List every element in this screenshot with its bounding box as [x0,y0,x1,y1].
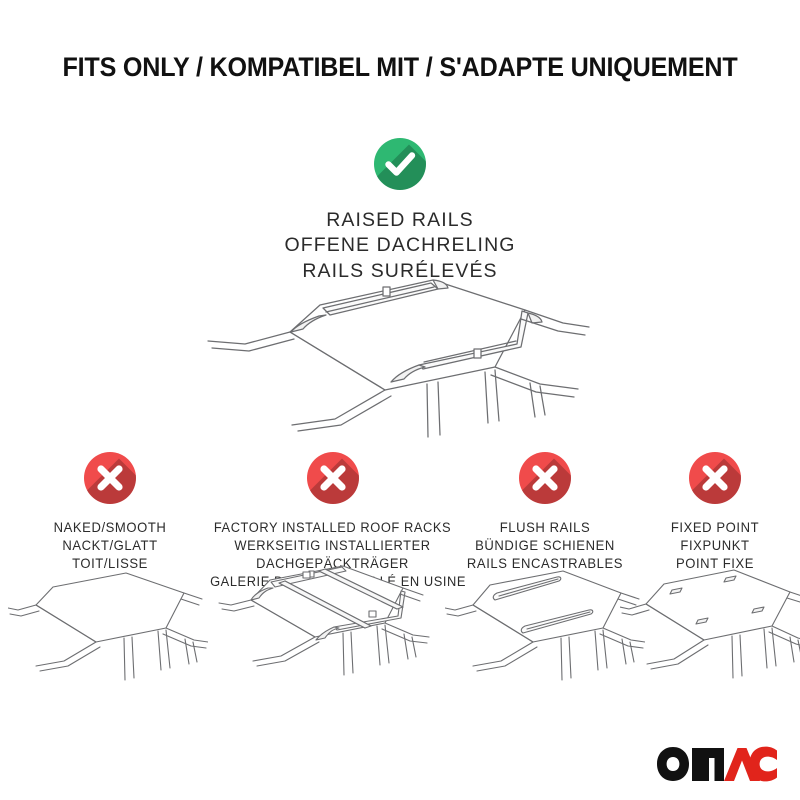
item-label-de: BÜNDIGE SCHIENEN [454,537,636,555]
logo-letter-o [657,747,689,781]
compatible-label-de: OFFENE DACHRELING [0,233,800,258]
item-label-en: FLUSH RAILS [454,519,636,537]
x-circle-icon [689,452,741,504]
omac-logo [656,746,778,782]
incompatible-item-naked-smooth: NAKED/SMOOTH NACKT/GLATT TOIT/LISSE [5,452,215,574]
compatible-label-en: RAISED RAILS [0,208,800,233]
logo-letter-m [692,748,724,781]
item-label-en: NAKED/SMOOTH [9,519,211,537]
x-circle-icon [84,452,136,504]
x-circle-icon [519,452,571,504]
check-circle-icon [374,138,426,190]
page-title: FITS ONLY / KOMPATIBEL MIT / S'ADAPTE UN… [28,52,772,83]
naked-smooth-illustration [8,560,208,695]
logo-letter-c [749,747,777,782]
fixed-point-illustration [620,552,800,697]
item-label-de: NACKT/GLATT [9,537,211,555]
item-label-en: FACTORY INSTALLED ROOF RACKS [210,519,455,537]
raised-rails-illustration [195,272,615,447]
flush-rails-illustration [445,555,645,695]
compatibility-infographic: FITS ONLY / KOMPATIBEL MIT / S'ADAPTE UN… [0,0,800,800]
x-circle-icon [307,452,359,504]
compatible-section: RAISED RAILS OFFENE DACHRELING RAILS SUR… [0,138,800,284]
factory-roof-rack-illustration [215,550,445,695]
item-label-en: FIXED POINT [633,519,796,537]
